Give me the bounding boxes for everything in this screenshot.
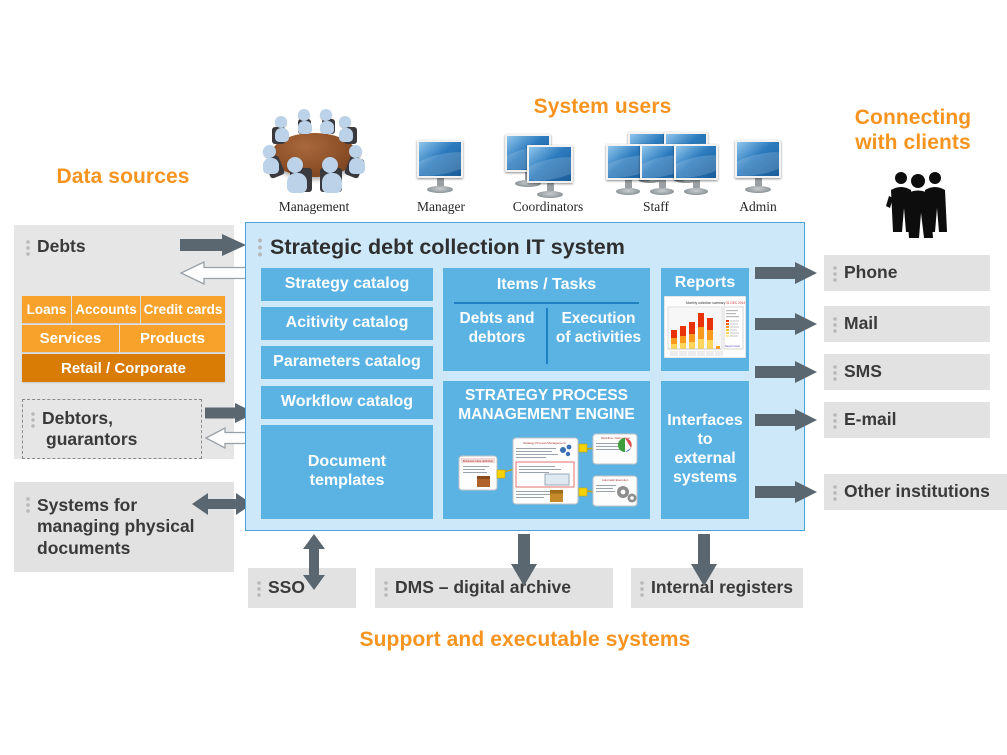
bullet-dots-icon: [833, 316, 837, 333]
cell-execution-line2: of activities: [556, 329, 641, 346]
bullet-dots-icon: [833, 265, 837, 282]
strategy-catalog-label: Strategy catalog: [285, 275, 409, 294]
interfaces-line4: systems: [673, 469, 737, 488]
bullet-dots-icon: [31, 411, 35, 428]
chip-accounts-label: Accounts: [75, 302, 137, 317]
heading-data-sources-text: Data sources: [56, 165, 189, 188]
parameters-catalog-label: Parameters catalog: [273, 353, 421, 372]
items-tasks-cell-debts: Debts and debtors: [451, 310, 543, 347]
channel-phone-label: Phone: [844, 262, 897, 283]
channel-mail-label: Mail: [844, 313, 878, 334]
document-templates-box[interactable]: Document templates: [261, 425, 433, 519]
bullet-dots-icon: [257, 580, 261, 597]
cell-debts-line1: Debts and: [460, 310, 535, 327]
activity-catalog-box[interactable]: Acitivity catalog: [261, 307, 433, 340]
heading-support-systems: Support and executable systems: [300, 628, 750, 653]
channel-phone[interactable]: Phone: [824, 255, 990, 291]
stacked-bar-chart-thumbnail: Monthly collection summary 31 DEC 2014: [664, 296, 746, 358]
process-engine-title: STRATEGY PROCESS MANAGEMENT ENGINE: [443, 381, 650, 424]
interfaces-box[interactable]: Interfaces to external systems: [661, 381, 749, 519]
channel-email-label: E-mail: [844, 409, 897, 430]
channel-other-institutions[interactable]: Other institutions: [824, 474, 1007, 510]
chip-loans-label: Loans: [27, 302, 67, 317]
documents-line3: documents: [37, 538, 130, 558]
heading-connecting-line2: with clients: [828, 131, 998, 156]
monitor-icon-staff: [602, 132, 720, 196]
workflow-catalog-label: Workflow catalog: [281, 393, 413, 412]
strategy-catalog-box[interactable]: Strategy catalog: [261, 268, 433, 301]
svg-text:Strategy Process Management: Strategy Process Management: [523, 441, 566, 445]
interfaces-line1: Interfaces: [667, 412, 743, 431]
debtors-guarantors-label: Debtors, guarantors: [42, 408, 137, 451]
svg-text:Business rules definition: Business rules definition: [463, 459, 494, 463]
bullet-dots-icon: [833, 484, 837, 501]
chip-retail-corporate[interactable]: Retail / Corporate: [22, 354, 225, 382]
arrow-to-sms: [755, 361, 817, 383]
chip-products[interactable]: Products: [120, 325, 225, 352]
items-tasks-title: Items / Tasks: [443, 268, 650, 294]
process-engine-box[interactable]: STRATEGY PROCESS MANAGEMENT ENGINE Busin…: [443, 381, 650, 519]
arrow-dms-down: [510, 534, 538, 586]
meeting-table-icon: [243, 105, 383, 200]
bullet-dots-icon: [833, 412, 837, 429]
process-engine-title-line1: STRATEGY PROCESS: [465, 387, 628, 404]
channel-sms-label: SMS: [844, 361, 882, 382]
user-caption-staff: Staff: [618, 199, 694, 215]
system-panel-title: Strategic debt collection IT system: [258, 232, 798, 262]
documents-line2: managing physical: [37, 516, 195, 536]
monitor-icon-coordinators: [505, 134, 591, 194]
heading-connecting-with-clients: Connecting with clients: [828, 106, 998, 156]
items-tasks-divider-vertical: [546, 308, 548, 364]
monitor-icon-admin: [735, 140, 781, 192]
debts-label: Debts: [26, 234, 186, 260]
heading-support-systems-text: Support and executable systems: [360, 628, 691, 651]
arrow-documents-bidirectional: [192, 490, 252, 518]
chip-services[interactable]: Services: [22, 325, 119, 352]
workflow-catalog-box[interactable]: Workflow catalog: [261, 386, 433, 419]
arrow-internal-registers-down: [690, 534, 718, 586]
arrow-to-email: [755, 409, 817, 431]
items-tasks-cell-execution: Execution of activities: [551, 310, 646, 347]
chip-credit-cards[interactable]: Credit cards: [141, 296, 225, 323]
svg-text:Monthly collection summary: Monthly collection summary: [686, 301, 726, 305]
chip-loans[interactable]: Loans: [22, 296, 71, 323]
svg-text:Automatic Execution: Automatic Execution: [602, 478, 629, 482]
heading-connecting-line1: Connecting: [828, 106, 998, 131]
debtors-guarantors-box: Debtors, guarantors: [22, 399, 202, 459]
arrow-system-to-debts: [180, 261, 246, 285]
documents-line1: Systems for: [37, 495, 137, 515]
user-caption-coordinators: Coordinators: [495, 199, 601, 215]
bullet-dots-icon: [640, 580, 644, 597]
svg-text:31 DEC 2014: 31 DEC 2014: [726, 301, 745, 305]
bullet-dots-icon: [384, 580, 388, 597]
bullet-dots-icon: [258, 237, 262, 258]
channel-mail[interactable]: Mail: [824, 306, 990, 342]
bullet-dots-icon: [833, 364, 837, 381]
chip-accounts[interactable]: Accounts: [72, 296, 140, 323]
physical-documents-label: Systems for managing physical documents: [37, 495, 195, 559]
interfaces-line3: external: [674, 450, 735, 469]
document-templates-line2: templates: [310, 472, 385, 491]
chip-credit-cards-label: Credit cards: [144, 302, 223, 317]
bullet-dots-icon: [26, 496, 30, 513]
arrow-to-other-institutions: [755, 481, 817, 503]
chip-services-label: Services: [40, 330, 102, 347]
bullet-dots-icon: [26, 239, 30, 256]
channel-other-institutions-label: Other institutions: [844, 481, 990, 502]
document-templates-line1: Document: [308, 453, 386, 472]
items-tasks-divider-horizontal: [454, 302, 639, 304]
reports-title: Reports: [661, 268, 749, 292]
support-internal-registers-label: Internal registers: [651, 577, 793, 598]
system-panel-title-text: Strategic debt collection IT system: [270, 235, 625, 260]
debtors-line1: Debtors,: [42, 408, 113, 428]
svg-text:Report footer: Report footer: [725, 344, 740, 348]
interfaces-line2: to: [697, 431, 712, 450]
process-engine-title-line2: MANAGEMENT ENGINE: [458, 406, 635, 423]
parameters-catalog-box[interactable]: Parameters catalog: [261, 346, 433, 379]
heading-system-users-text: System users: [534, 95, 672, 118]
businessmen-silhouette-svg: [885, 168, 951, 240]
channel-email[interactable]: E-mail: [824, 402, 990, 438]
chip-products-label: Products: [140, 330, 205, 347]
arrow-sso-bidirectional: [300, 534, 328, 590]
user-caption-admin: Admin: [718, 199, 798, 215]
items-tasks-box[interactable]: Items / Tasks Debts and debtors Executio…: [443, 268, 650, 371]
channel-sms[interactable]: SMS: [824, 354, 990, 390]
cell-debts-line2: debtors: [469, 329, 526, 346]
support-dms[interactable]: DMS – digital archive: [375, 568, 613, 608]
user-caption-management: Management: [253, 199, 375, 215]
heading-system-users: System users: [495, 95, 710, 120]
debtors-line2: guarantors: [46, 429, 137, 450]
support-dms-label: DMS – digital archive: [395, 577, 571, 598]
cell-execution-line1: Execution: [561, 310, 635, 327]
arrow-to-phone: [755, 262, 817, 284]
reports-box[interactable]: Reports Monthly collection summary 31 DE…: [661, 268, 749, 371]
arrow-debts-to-system: [180, 234, 246, 256]
heading-data-sources: Data sources: [28, 165, 218, 190]
activity-catalog-label: Acitivity catalog: [286, 314, 409, 333]
chip-retail-corporate-label: Retail / Corporate: [61, 360, 186, 377]
arrow-to-mail: [755, 313, 817, 335]
businessmen-icon: [885, 168, 951, 240]
debts-label-text: Debts: [37, 236, 86, 257]
monitor-icon-manager: [417, 140, 463, 192]
process-flow-diagram-thumbnail: Business rules definition Strategy Proce…: [453, 428, 640, 512]
user-caption-manager: Manager: [395, 199, 487, 215]
